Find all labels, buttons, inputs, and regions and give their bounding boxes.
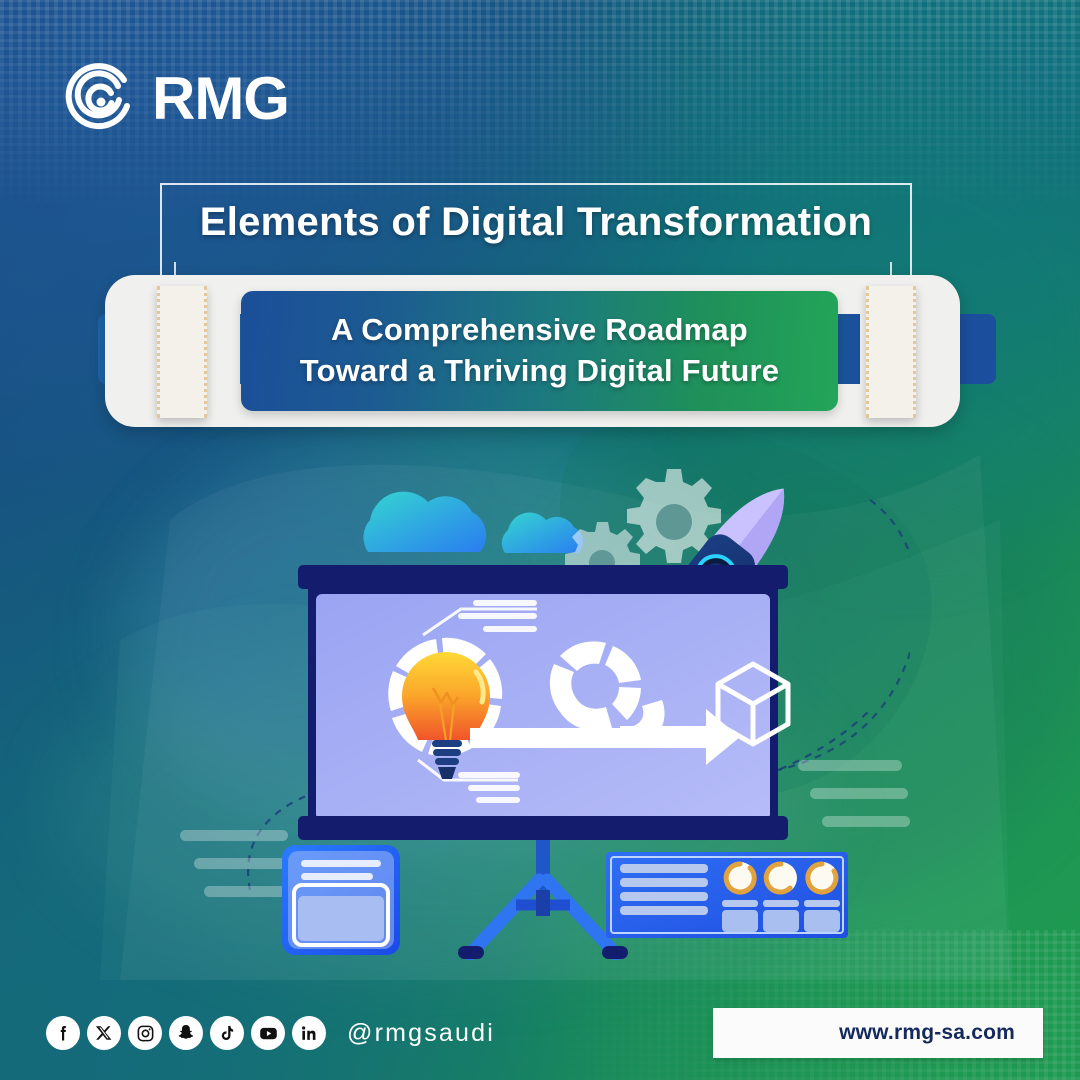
cloud-icon-small <box>502 513 583 553</box>
facebook-glyph <box>53 1023 73 1043</box>
social-links: @rmgsaudi <box>46 1016 495 1050</box>
linkedin-glyph <box>300 1024 319 1043</box>
tiktok-glyph <box>218 1024 236 1042</box>
presentation-screen <box>298 565 788 840</box>
page-title: Elements of Digital Transformation <box>160 200 912 245</box>
ribbon-tab-right <box>866 286 916 418</box>
brand-logo: RMG <box>64 62 289 136</box>
x-glyph <box>95 1024 113 1042</box>
dashboard-panel <box>606 852 848 938</box>
website-url: www.rmg-sa.com <box>839 1021 1015 1045</box>
social-handle: @rmgsaudi <box>347 1019 495 1048</box>
speed-lines-left <box>180 830 288 897</box>
linkedin-icon[interactable] <box>292 1016 326 1050</box>
footer: @rmgsaudi www.rmg-sa.com <box>0 984 1080 1080</box>
speed-lines-right <box>798 760 910 827</box>
browser-window-card <box>282 845 400 955</box>
x-twitter-icon[interactable] <box>87 1016 121 1050</box>
subtitle-line-1: A Comprehensive Roadmap <box>331 310 748 351</box>
website-url-box[interactable]: www.rmg-sa.com <box>713 1008 1043 1058</box>
cloud-icon-large <box>363 492 486 552</box>
snapchat-icon[interactable] <box>169 1016 203 1050</box>
youtube-glyph <box>258 1023 279 1044</box>
tiktok-icon[interactable] <box>210 1016 244 1050</box>
instagram-icon[interactable] <box>128 1016 162 1050</box>
facebook-icon[interactable] <box>46 1016 80 1050</box>
brand-wordmark: RMG <box>152 69 289 129</box>
subtitle-line-2: Toward a Thriving Digital Future <box>300 351 779 392</box>
youtube-icon[interactable] <box>251 1016 285 1050</box>
ribbon-tab-left <box>157 286 207 418</box>
rmg-spiral-logo-icon <box>64 62 138 136</box>
snapchat-glyph <box>176 1023 196 1043</box>
digital-transformation-illustration <box>170 460 910 960</box>
progress-rings <box>724 862 838 894</box>
instagram-glyph <box>136 1024 155 1043</box>
subtitle-banner: A Comprehensive Roadmap Toward a Thrivin… <box>241 291 838 411</box>
social-media-graphic: RMG Elements of Digital Transformation A… <box>0 0 1080 1080</box>
tripod-stand <box>458 840 628 959</box>
